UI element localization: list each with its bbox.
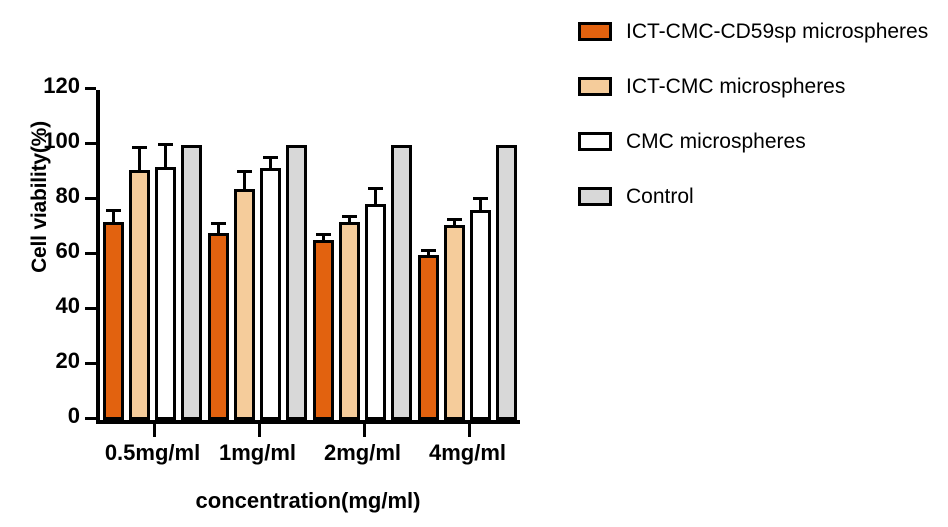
error-bar-cap: [421, 249, 436, 252]
bar[interactable]: [260, 90, 281, 420]
bar[interactable]: [496, 90, 517, 420]
error-bar-line: [348, 218, 351, 222]
bar[interactable]: [444, 90, 465, 420]
bar[interactable]: [391, 90, 412, 420]
error-bar-cap: [106, 209, 121, 212]
error-bar-cap: [342, 215, 357, 218]
bar[interactable]: [470, 90, 491, 420]
bar-rect: [313, 240, 334, 420]
error-bar-line: [453, 221, 456, 225]
y-tick-40: 40: [85, 307, 96, 310]
bar-rect: [234, 189, 255, 420]
bar-chart-figure: Cell viability(%) 020406080100120 0.5mg/…: [0, 0, 948, 527]
x-axis-title: concentration(mg/ml): [96, 488, 520, 514]
error-bar-line: [217, 225, 220, 233]
bar-rect: [365, 204, 386, 420]
bar-rect: [286, 145, 307, 420]
bar[interactable]: [181, 90, 202, 420]
bar-rect: [260, 168, 281, 420]
error-bar-cap: [158, 143, 173, 146]
y-tick-label: 20: [56, 348, 80, 374]
bar[interactable]: [286, 90, 307, 420]
x-tick-label: 0.5mg/ml: [105, 440, 200, 466]
bar-rect: [391, 145, 412, 420]
bar[interactable]: [103, 90, 124, 420]
error-bar-cap: [368, 187, 383, 190]
y-tick-label: 120: [43, 73, 80, 99]
bar[interactable]: [129, 90, 150, 420]
y-tick-60: 60: [85, 252, 96, 255]
legend-item[interactable]: ICT-CMC-CD59sp microspheres: [578, 4, 944, 59]
legend-label: Control: [626, 185, 694, 209]
y-tick-label: 60: [56, 238, 80, 264]
bar[interactable]: [418, 90, 439, 420]
bar-rect: [444, 225, 465, 420]
y-tick-80: 80: [85, 197, 96, 200]
bar-rect: [181, 145, 202, 420]
error-bar-cap: [447, 218, 462, 221]
bar-group: [310, 90, 415, 420]
x-tick-label: 2mg/ml: [324, 440, 401, 466]
legend-label: ICT-CMC microspheres: [626, 75, 845, 99]
legend-swatch: [578, 132, 612, 151]
y-tick-label: 40: [56, 293, 80, 319]
error-bar-line: [112, 212, 115, 222]
y-tick-0: 0: [85, 417, 96, 420]
y-tick-label: 80: [56, 183, 80, 209]
bar-rect: [470, 210, 491, 420]
legend-swatch: [578, 22, 612, 41]
x-tick: [468, 424, 471, 437]
legend-item[interactable]: ICT-CMC microspheres: [578, 59, 944, 114]
legend-swatch: [578, 187, 612, 206]
bar-rect: [103, 222, 124, 420]
y-tick-120: 120: [85, 87, 96, 90]
bar-rect: [208, 233, 229, 420]
x-tick: [363, 424, 366, 437]
chart-legend: ICT-CMC-CD59sp microspheresICT-CMC micro…: [578, 4, 944, 224]
legend-item[interactable]: Control: [578, 169, 944, 224]
error-bar-cap: [263, 156, 278, 159]
bar[interactable]: [208, 90, 229, 420]
bar-group: [415, 90, 520, 420]
y-axis-title: Cell viability(%): [28, 67, 52, 327]
error-bar-cap: [237, 170, 252, 173]
bar-rect: [496, 145, 517, 420]
plot-area: 020406080100120 0.5mg/ml1mg/ml2mg/ml4mg/…: [96, 90, 520, 420]
legend-label: CMC microspheres: [626, 130, 806, 154]
bar-group: [100, 90, 205, 420]
legend-swatch: [578, 77, 612, 96]
error-bar-line: [269, 159, 272, 169]
error-bar-line: [164, 146, 167, 167]
bar[interactable]: [313, 90, 334, 420]
bar-rect: [155, 167, 176, 420]
error-bar-line: [427, 252, 430, 255]
error-bar-line: [374, 190, 377, 204]
error-bar-cap: [473, 197, 488, 200]
y-tick-100: 100: [85, 142, 96, 145]
x-axis-line: [96, 420, 520, 424]
y-tick-label: 0: [68, 403, 80, 429]
y-tick-label: 100: [43, 128, 80, 154]
bar[interactable]: [234, 90, 255, 420]
legend-item[interactable]: CMC microspheres: [578, 114, 944, 169]
bar[interactable]: [155, 90, 176, 420]
bar-group: [205, 90, 310, 420]
error-bar-line: [138, 149, 141, 170]
error-bar-line: [243, 173, 246, 190]
bar[interactable]: [365, 90, 386, 420]
bar-rect: [129, 170, 150, 420]
x-tick-label: 4mg/ml: [429, 440, 506, 466]
x-tick: [153, 424, 156, 437]
error-bar-line: [479, 200, 482, 210]
error-bar-cap: [132, 146, 147, 149]
error-bar-cap: [211, 222, 226, 225]
error-bar-cap: [316, 233, 331, 236]
bar-rect: [339, 222, 360, 420]
error-bar-line: [322, 236, 325, 240]
y-tick-20: 20: [85, 362, 96, 365]
bar-groups: [100, 90, 520, 420]
x-tick: [258, 424, 261, 437]
bar[interactable]: [339, 90, 360, 420]
x-tick-label: 1mg/ml: [219, 440, 296, 466]
legend-label: ICT-CMC-CD59sp microspheres: [626, 20, 928, 44]
bar-rect: [418, 255, 439, 420]
